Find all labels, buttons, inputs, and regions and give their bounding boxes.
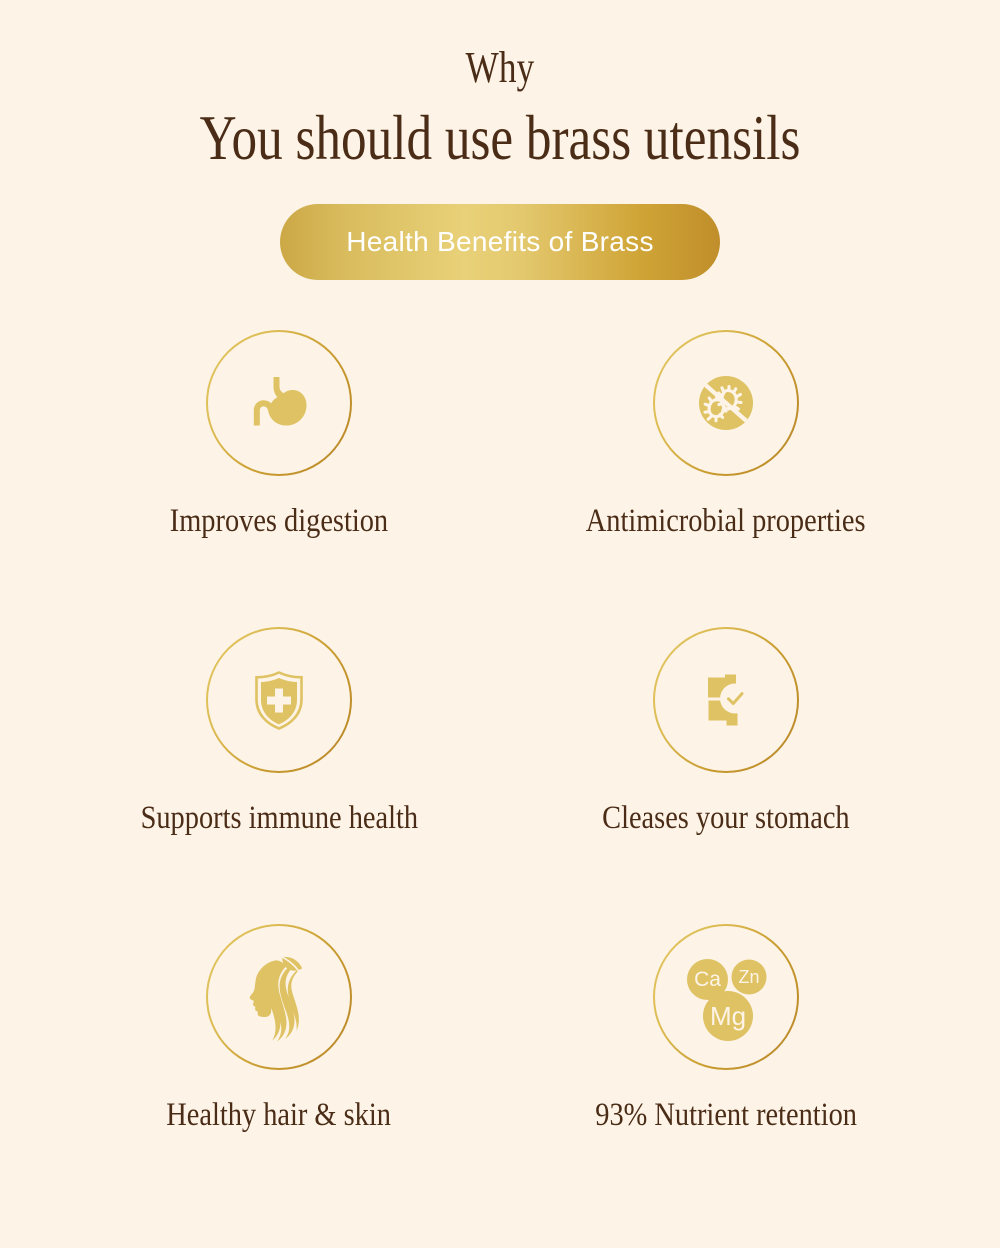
page-title: You should use brass utensils [100, 104, 900, 171]
antimicrobial-icon [686, 363, 766, 443]
page-kicker: Why [100, 46, 900, 90]
benefit-item-antimicrobial-properties: Antimicrobial properties [500, 330, 1000, 627]
woman-hair-leaf-icon [237, 950, 321, 1044]
badge-container: Health Benefits of Brass [0, 204, 1000, 280]
intestine-check-icon [686, 660, 766, 740]
icon-ring [653, 627, 799, 773]
mineral-label-zn: Zn [738, 967, 759, 987]
icon-ring: Ca Zn Mg [653, 924, 799, 1070]
health-benefits-badge: Health Benefits of Brass [280, 204, 720, 280]
benefit-label: Healthy hair & skin [167, 1097, 392, 1133]
benefit-label: Antimicrobial properties [586, 503, 866, 539]
icon-ring [206, 627, 352, 773]
shield-cross-icon [241, 662, 317, 738]
stomach-icon [240, 364, 318, 442]
benefit-item-improves-digestion: Improves digestion [0, 330, 500, 627]
benefit-label: Cleases your stomach [602, 800, 849, 836]
benefit-item-supports-immune-health: Supports immune health [0, 627, 500, 924]
infographic-page: Why You should use brass utensils Health… [0, 0, 1000, 1248]
benefit-label: 93% Nutrient retention [595, 1097, 857, 1133]
mineral-label-mg: Mg [710, 1001, 746, 1031]
benefit-item-healthy-hair-skin: Healthy hair & skin [0, 924, 500, 1221]
benefit-item-cleases-your-stomach: Cleases your stomach [500, 627, 1000, 924]
header: Why You should use brass utensils [0, 0, 1000, 171]
icon-ring [206, 924, 352, 1070]
benefits-grid: Improves digestion [0, 330, 1000, 1221]
minerals-icon: Ca Zn Mg [678, 951, 774, 1043]
benefit-label: Improves digestion [170, 503, 388, 539]
icon-ring [653, 330, 799, 476]
icon-ring [206, 330, 352, 476]
benefit-label: Supports immune health [140, 800, 417, 836]
mineral-label-ca: Ca [694, 968, 721, 991]
benefit-item-nutrient-retention: Ca Zn Mg 93% Nutrient retention [500, 924, 1000, 1221]
